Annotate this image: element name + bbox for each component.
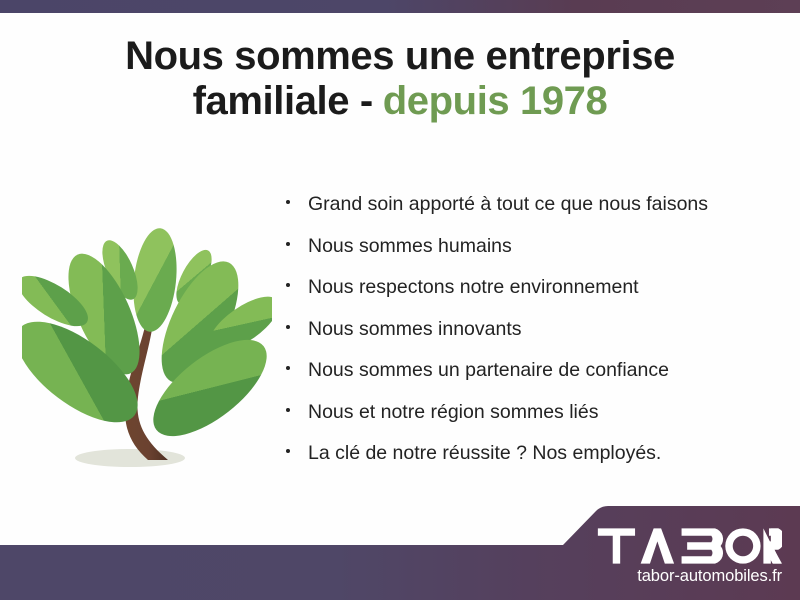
bullet-dot-icon (286, 449, 290, 453)
logo-letter-a (641, 528, 674, 563)
value-bullet-list: Grand soin apporté à tout ce que nous fa… (283, 189, 783, 480)
list-item: La clé de notre réussite ? Nos employés. (283, 438, 783, 480)
list-item-label: Nous sommes un partenaire de confiance (308, 359, 669, 381)
slide-canvas: Nous sommes une entreprise familiale -de… (0, 0, 800, 600)
list-item: Nous respectons notre environnement (283, 272, 783, 314)
title-line-2-plain: familiale - (193, 79, 373, 123)
list-item-label: La clé de notre réussite ? Nos employés. (308, 442, 661, 464)
list-item: Nous sommes humains (283, 231, 783, 273)
list-item-label: Nous sommes humains (308, 235, 512, 257)
title-accent-since: depuis 1978 (383, 79, 608, 123)
bullet-dot-icon (286, 325, 290, 329)
bullet-dot-icon (286, 408, 290, 412)
bullet-dot-icon (286, 242, 290, 246)
top-accent-bar (0, 0, 800, 13)
logo-letter-o (725, 528, 760, 563)
logo-wordmark (582, 526, 782, 566)
list-item: Grand soin apporté à tout ce que nous fa… (283, 189, 783, 231)
list-item-label: Grand soin apporté à tout ce que nous fa… (308, 193, 708, 215)
list-item-label: Nous respectons notre environnement (308, 276, 639, 298)
title-line-2: familiale -depuis 1978 (0, 79, 800, 124)
list-item: Nous et notre région sommes liés (283, 397, 783, 439)
bullet-dot-icon (286, 283, 290, 287)
logo-letter-t (598, 528, 635, 563)
title-line-1: Nous sommes une entreprise (0, 34, 800, 79)
logo-website-label: tabor-automobiles.fr (582, 567, 782, 586)
list-item-label: Nous et notre région sommes liés (308, 401, 598, 423)
list-item: Nous sommes un partenaire de confiance (283, 355, 783, 397)
tree-illustration (22, 192, 272, 492)
bullet-dot-icon (286, 200, 290, 204)
list-item-label: Nous sommes innovants (308, 318, 522, 340)
list-item: Nous sommes innovants (283, 314, 783, 356)
page-title: Nous sommes une entreprise familiale -de… (0, 34, 800, 124)
tree-shadow (75, 449, 185, 467)
logo-letter-b-reversed (682, 528, 723, 563)
bullet-dot-icon (286, 366, 290, 370)
brand-logo[interactable]: tabor-automobiles.fr (582, 526, 782, 586)
